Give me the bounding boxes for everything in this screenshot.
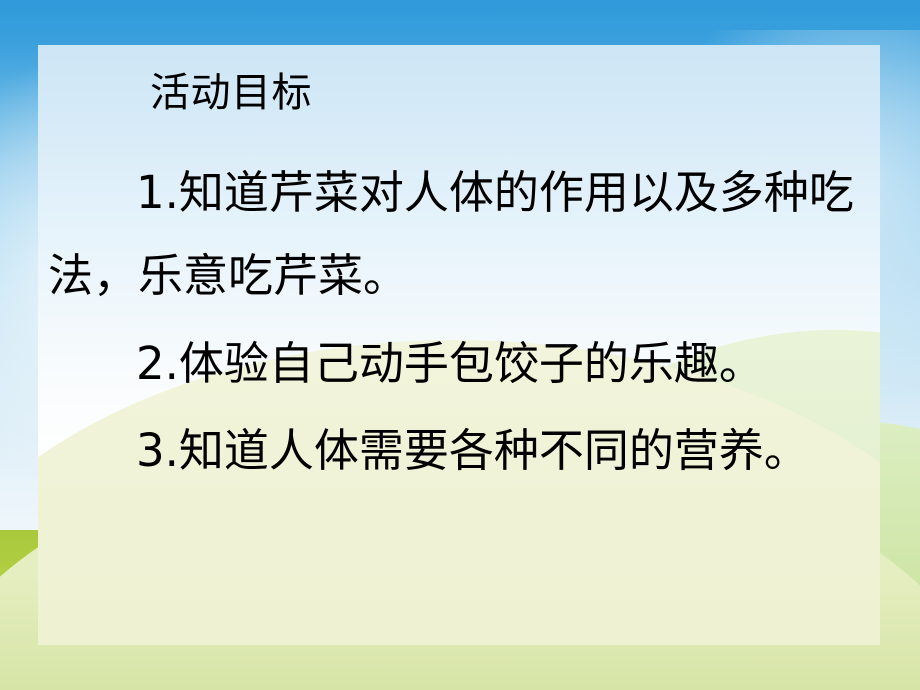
objective-2-line-1: 2.体验自己动手包饺子的乐趣。 bbox=[136, 341, 764, 386]
content-panel: 活动目标 1.知道芹菜对人体的作用以及多种吃 法，乐意吃芹菜。 2.体验自己动手… bbox=[38, 45, 880, 645]
objective-3-line-1: 3.知道人体需要各种不同的营养。 bbox=[136, 428, 809, 473]
objective-1-line-2: 法，乐意吃芹菜。 bbox=[48, 253, 408, 298]
objective-1-line-1: 1.知道芹菜对人体的作用以及多种吃 bbox=[136, 170, 854, 215]
panel-body: 活动目标 1.知道芹菜对人体的作用以及多种吃 法，乐意吃芹菜。 2.体验自己动手… bbox=[38, 45, 880, 645]
slide-title: 活动目标 bbox=[150, 73, 312, 113]
slide-canvas: 活动目标 1.知道芹菜对人体的作用以及多种吃 法，乐意吃芹菜。 2.体验自己动手… bbox=[0, 0, 920, 690]
